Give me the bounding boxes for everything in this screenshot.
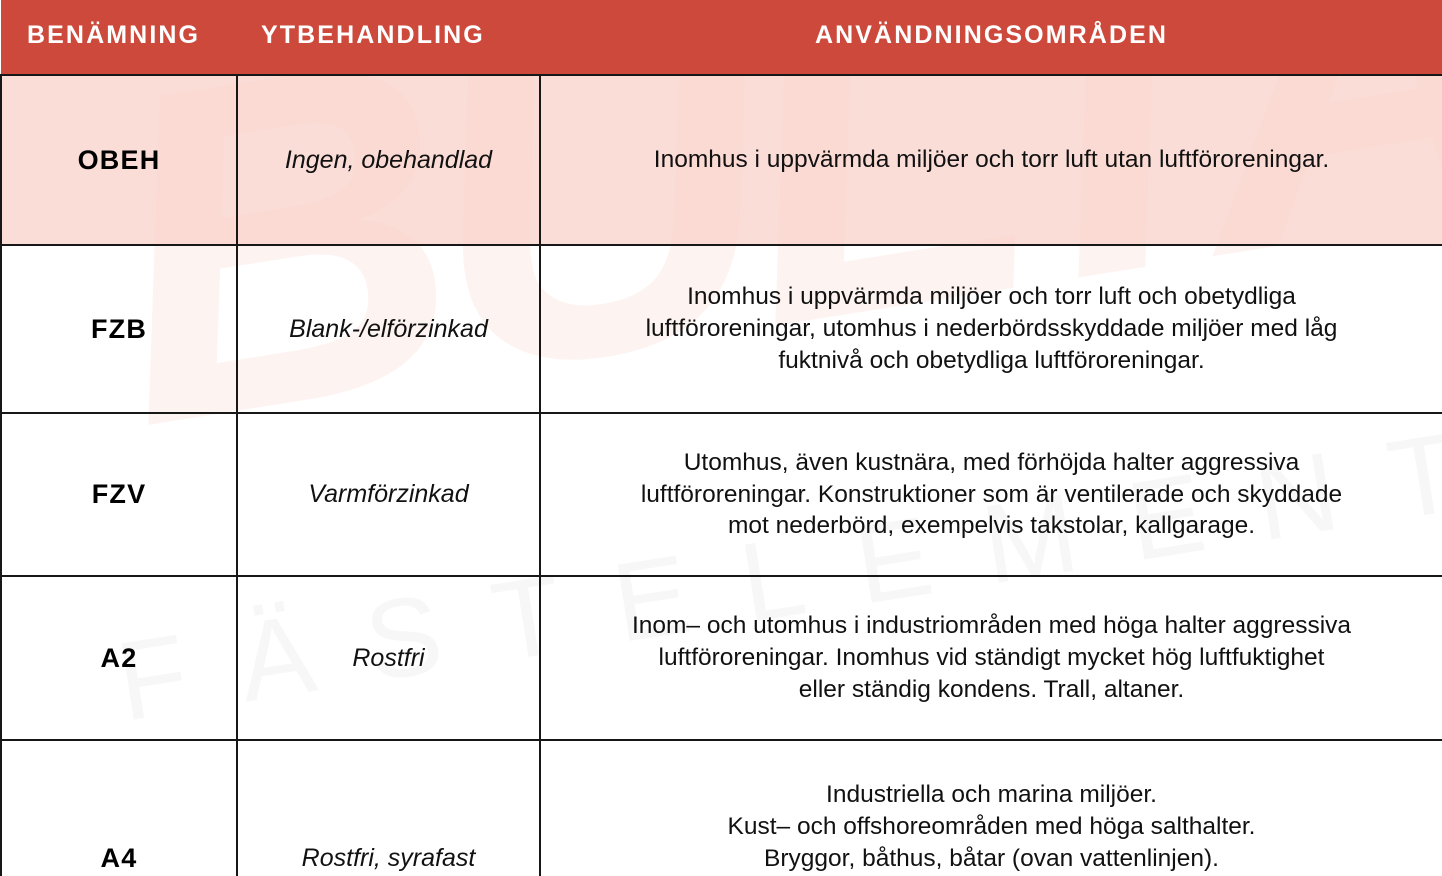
cell-treatment: Blank-/elförzinkad	[237, 245, 540, 413]
cell-treatment: Rostfri, syrafast	[237, 740, 540, 876]
usage-line: luftföroreningar. Inomhus vid ständigt m…	[557, 642, 1426, 674]
cell-treatment: Ingen, obehandlad	[237, 75, 540, 245]
cell-treatment: Rostfri	[237, 576, 540, 740]
cell-code: A4	[1, 740, 237, 876]
cell-usage: Inomhus i uppvärmda miljöer och torr luf…	[540, 245, 1442, 413]
table-body: OBEH Ingen, obehandlad Inomhus i uppvärm…	[1, 75, 1442, 876]
usage-line: Kust– och offshoreområden med höga salth…	[557, 811, 1426, 843]
table-row: FZV Varmförzinkad Utomhus, även kustnära…	[1, 413, 1442, 576]
usage-line: Inomhus i uppvärmda miljöer och torr luf…	[557, 281, 1426, 313]
cell-code: FZB	[1, 245, 237, 413]
usage-line: luftföroreningar, utomhus i nederbördssk…	[557, 313, 1426, 345]
table-row: FZB Blank-/elförzinkad Inomhus i uppvärm…	[1, 245, 1442, 413]
column-header-anvandningsomraden: ANVÄNDNINGSOMRÅDEN	[540, 0, 1442, 75]
surface-treatment-table-wrapper: BENÄMNING YTBEHANDLING ANVÄNDNINGSOMRÅDE…	[0, 0, 1442, 876]
cell-usage: Inomhus i uppvärmda miljöer och torr luf…	[540, 75, 1442, 245]
cell-code: FZV	[1, 413, 237, 576]
cell-usage: Inom– och utomhus i industriområden med …	[540, 576, 1442, 740]
usage-line: mot nederbörd, exempelvis takstolar, kal…	[557, 510, 1426, 542]
cell-treatment: Varmförzinkad	[237, 413, 540, 576]
cell-usage: Utomhus, även kustnära, med förhöjda hal…	[540, 413, 1442, 576]
usage-line: luftföroreningar. Konstruktioner som är …	[557, 479, 1426, 511]
surface-treatment-table: BENÄMNING YTBEHANDLING ANVÄNDNINGSOMRÅDE…	[0, 0, 1442, 876]
column-header-benamning: BENÄMNING	[1, 0, 237, 75]
cell-code: A2	[1, 576, 237, 740]
table-row: A4 Rostfri, syrafast Industriella och ma…	[1, 740, 1442, 876]
table-row: OBEH Ingen, obehandlad Inomhus i uppvärm…	[1, 75, 1442, 245]
table-header-row: BENÄMNING YTBEHANDLING ANVÄNDNINGSOMRÅDE…	[1, 0, 1442, 75]
usage-line: eller ständig kondens. Trall, altaner.	[557, 674, 1426, 706]
usage-line: fuktnivå och obetydliga luftföroreningar…	[557, 345, 1426, 377]
cell-code: OBEH	[1, 75, 237, 245]
column-header-ytbehandling: YTBEHANDLING	[237, 0, 540, 75]
usage-line: Bryggor, båthus, båtar (ovan vattenlinje…	[557, 843, 1426, 875]
table-row: A2 Rostfri Inom– och utomhus i industrio…	[1, 576, 1442, 740]
usage-line: Utomhus, även kustnära, med förhöjda hal…	[557, 447, 1426, 479]
usage-line: Inomhus i uppvärmda miljöer och torr luf…	[557, 144, 1426, 176]
usage-line: Industriella och marina miljöer.	[557, 779, 1426, 811]
screenshot-surface: BULTAB FÄSTELEMENT BENÄMNING YTBEHANDLIN…	[0, 0, 1442, 876]
table-header: BENÄMNING YTBEHANDLING ANVÄNDNINGSOMRÅDE…	[1, 0, 1442, 75]
usage-line: Inom– och utomhus i industriområden med …	[557, 610, 1426, 642]
cell-usage: Industriella och marina miljöer. Kust– o…	[540, 740, 1442, 876]
